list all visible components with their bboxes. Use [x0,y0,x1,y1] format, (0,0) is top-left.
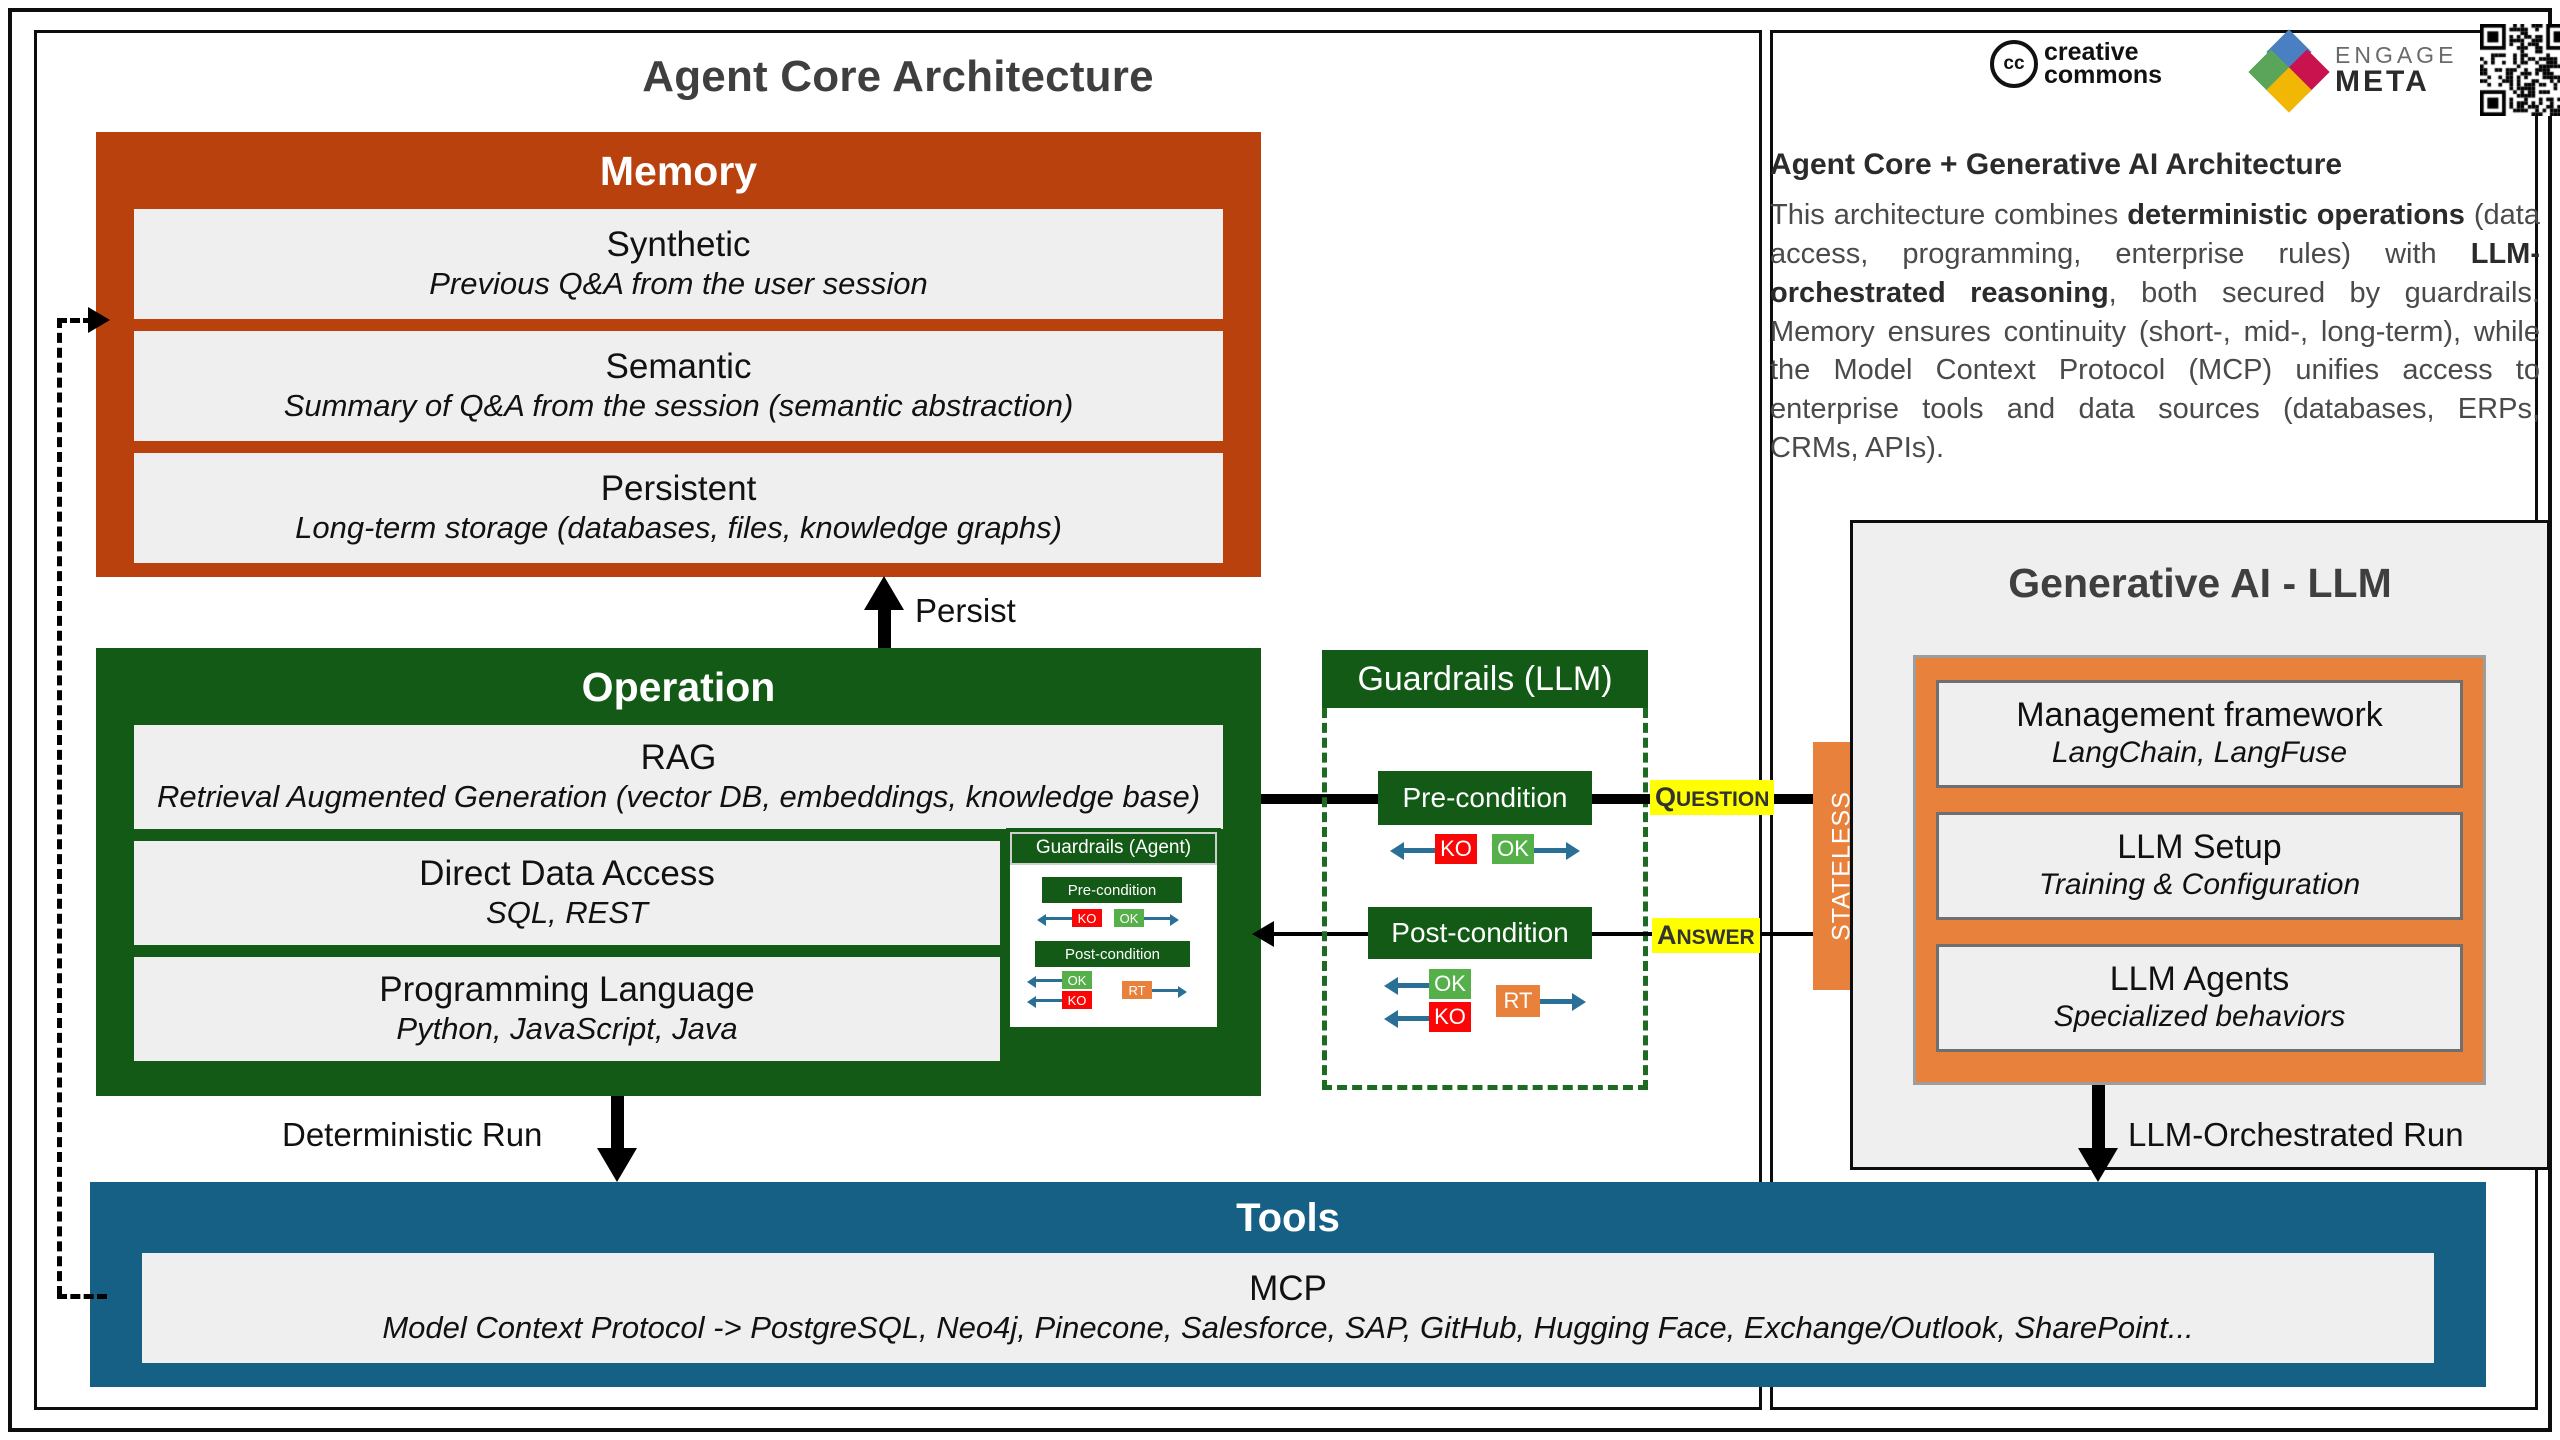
genai-row-setup-label: LLM Setup [2117,830,2281,866]
gl-pre-ko-chip: KO [1435,834,1477,864]
guardrails-llm-post-condition: Post-condition [1368,907,1592,959]
guardrails-llm-pre-condition: Pre-condition [1378,771,1592,825]
engage-meta-logo: ENGAGE META [2255,36,2457,104]
ga-post-ko-chip: KO [1062,991,1092,1009]
deterministic-run-shaft [611,1096,624,1151]
persist-arrow-head [864,576,904,610]
question-label-first: Q [1655,782,1676,812]
operation-row-programming-language: Programming Language Python, JavaScript,… [134,957,1000,1061]
gl-post-ok-chip: OK [1429,969,1471,999]
cc-wordmark: creative commons [2044,41,2162,87]
memory-title: Memory [134,142,1223,209]
ga-post-rt-line [1152,989,1178,992]
memory-row-persistent-sub: Long-term storage (databases, files, kno… [295,510,1062,546]
memory-row-synthetic: Synthetic Previous Q&A from the user ses… [134,209,1223,319]
tools-group: Tools MCP Model Context Protocol -> Post… [90,1182,2486,1387]
guardrails-agent-post-condition: Post-condition [1035,941,1190,967]
engage-meta-line1: ENGAGE [2335,44,2457,67]
tools-row-mcp-label: MCP [1249,1271,1327,1308]
guardrails-llm-box [1322,708,1648,1090]
persist-label: Persist [915,592,1016,630]
genai-row-management-framework: Management framework LangChain, LangFuse [1936,680,2463,788]
operation-title: Operation [134,658,1223,725]
cc-line2: commons [2044,61,2162,89]
gl-post-ko-arrowhead [1384,1010,1398,1028]
ga-post-ok-chip: OK [1062,971,1092,989]
llm-orchestrated-run-shaft [2092,1085,2105,1151]
ga-post-rt-chip: RT [1122,981,1152,999]
deterministic-run-label: Deterministic Run [282,1116,542,1154]
ga-pre-ok-chip: OK [1114,909,1144,927]
generative-ai-title: Generative AI - LLM [1850,560,2550,607]
tools-row-mcp-sub: Model Context Protocol -> PostgreSQL, Ne… [382,1310,2193,1346]
tools-title: Tools [142,1190,2434,1253]
genai-row-agents-sub: Specialized behaviors [2054,1000,2346,1035]
gl-post-rt-line [1540,999,1572,1004]
gl-pre-ok-chip: OK [1492,834,1534,864]
ga-pre-ko-line [1046,917,1072,920]
ga-pre-ko-arrowhead [1037,914,1046,926]
llm-orchestrated-run-arrowhead [2078,1148,2118,1182]
engage-meta-line2: META [2335,67,2457,97]
operation-row-pl-label: Programming Language [379,972,755,1009]
gl-post-ok-line [1397,983,1429,988]
feedback-loop-bottom [57,1294,107,1299]
cc-mark-icon: cc [1990,40,2038,88]
llm-orchestrated-run-label: LLM-Orchestrated Run [2128,1116,2464,1154]
header-logos: cc creative commons ENGAGE META [1990,22,2535,114]
gl-post-ko-line [1397,1016,1429,1021]
description-body: This architecture combines deterministic… [1770,196,2540,468]
guardrails-agent-title: Guardrails (Agent) [1010,832,1217,865]
operation-row-dda-sub: SQL, REST [486,895,648,931]
operation-row-dda-label: Direct Data Access [419,856,715,893]
genai-row-mf-label: Management framework [2016,698,2383,734]
ga-post-ko-arrowhead [1027,996,1036,1008]
ga-post-ok-arrowhead [1027,976,1036,988]
answer-label: ANSWER [1652,918,1760,953]
page-title: Agent Core Architecture [34,52,1762,102]
memory-group: Memory Synthetic Previous Q&A from the u… [96,132,1261,577]
gl-post-rt-chip: RT [1496,985,1540,1017]
memory-row-semantic-label: Semantic [606,349,752,386]
engage-meta-diamond-icon [2255,36,2323,104]
answer-label-first: A [1657,920,1677,950]
gl-post-ko-chip: KO [1429,1002,1471,1032]
feedback-loop-arrowhead [88,307,110,333]
gl-pre-ok-arrowhead [1566,842,1580,860]
memory-row-semantic-sub: Summary of Q&A from the session (semanti… [284,388,1074,424]
guardrails-agent-pre-condition: Pre-condition [1042,877,1182,903]
memory-row-persistent: Persistent Long-term storage (databases,… [134,453,1223,563]
answer-label-rest: NSWER [1677,926,1755,949]
memory-row-persistent-label: Persistent [601,471,757,508]
operation-row-rag-label: RAG [641,740,717,777]
guardrails-llm-title: Guardrails (LLM) [1322,650,1648,708]
operation-row-rag: RAG Retrieval Augmented Generation (vect… [134,725,1223,829]
gl-pre-ko-arrowhead [1390,842,1404,860]
ga-post-rt-arrowhead [1178,986,1187,998]
ga-post-ko-line [1036,999,1062,1002]
ga-pre-ok-arrowhead [1170,914,1179,926]
ga-post-ok-line [1036,979,1062,982]
gl-pre-ok-line [1534,848,1566,853]
postcondition-to-operation-arrowhead [1252,921,1274,947]
gl-post-ok-arrowhead [1384,977,1398,995]
creative-commons-logo: cc creative commons [1990,40,2162,88]
operation-row-direct-data-access: Direct Data Access SQL, REST [134,841,1000,945]
memory-row-synthetic-sub: Previous Q&A from the user session [429,266,928,302]
memory-row-synthetic-label: Synthetic [607,227,751,264]
guardrails-agent-box: Guardrails (Agent) Pre-condition KO OK P… [1006,828,1221,1034]
genai-row-llm-setup: LLM Setup Training & Configuration [1936,812,2463,920]
generative-ai-inner-box: Management framework LangChain, LangFuse… [1913,655,2486,1085]
question-label-rest: UESTION [1676,788,1769,811]
memory-row-semantic: Semantic Summary of Q&A from the session… [134,331,1223,441]
ga-pre-ko-chip: KO [1072,909,1102,927]
description-title: Agent Core + Generative AI Architecture [1770,148,2540,182]
genai-row-mf-sub: LangChain, LangFuse [2052,736,2347,771]
ga-pre-ok-line [1144,917,1170,920]
question-label: QUESTION [1650,780,1774,815]
gl-post-rt-arrowhead [1572,993,1586,1011]
deterministic-run-arrowhead [597,1148,637,1182]
guardrails-agent-body: Pre-condition KO OK Post-condition OK KO… [1010,865,1217,1027]
engage-meta-wordmark: ENGAGE META [2335,44,2457,97]
gl-pre-ko-line [1403,848,1435,853]
architecture-diagram: cc creative commons ENGAGE META Agent Co… [0,0,2560,1440]
genai-row-llm-agents: LLM Agents Specialized behaviors [1936,944,2463,1052]
qr-code-icon [2480,24,2560,116]
genai-row-agents-label: LLM Agents [2110,962,2290,998]
operation-row-rag-sub: Retrieval Augmented Generation (vector D… [157,779,1200,815]
feedback-loop-vertical [57,318,62,1296]
operation-row-pl-sub: Python, JavaScript, Java [396,1011,737,1047]
tools-row-mcp: MCP Model Context Protocol -> PostgreSQL… [142,1253,2434,1363]
genai-row-setup-sub: Training & Configuration [2039,868,2360,903]
